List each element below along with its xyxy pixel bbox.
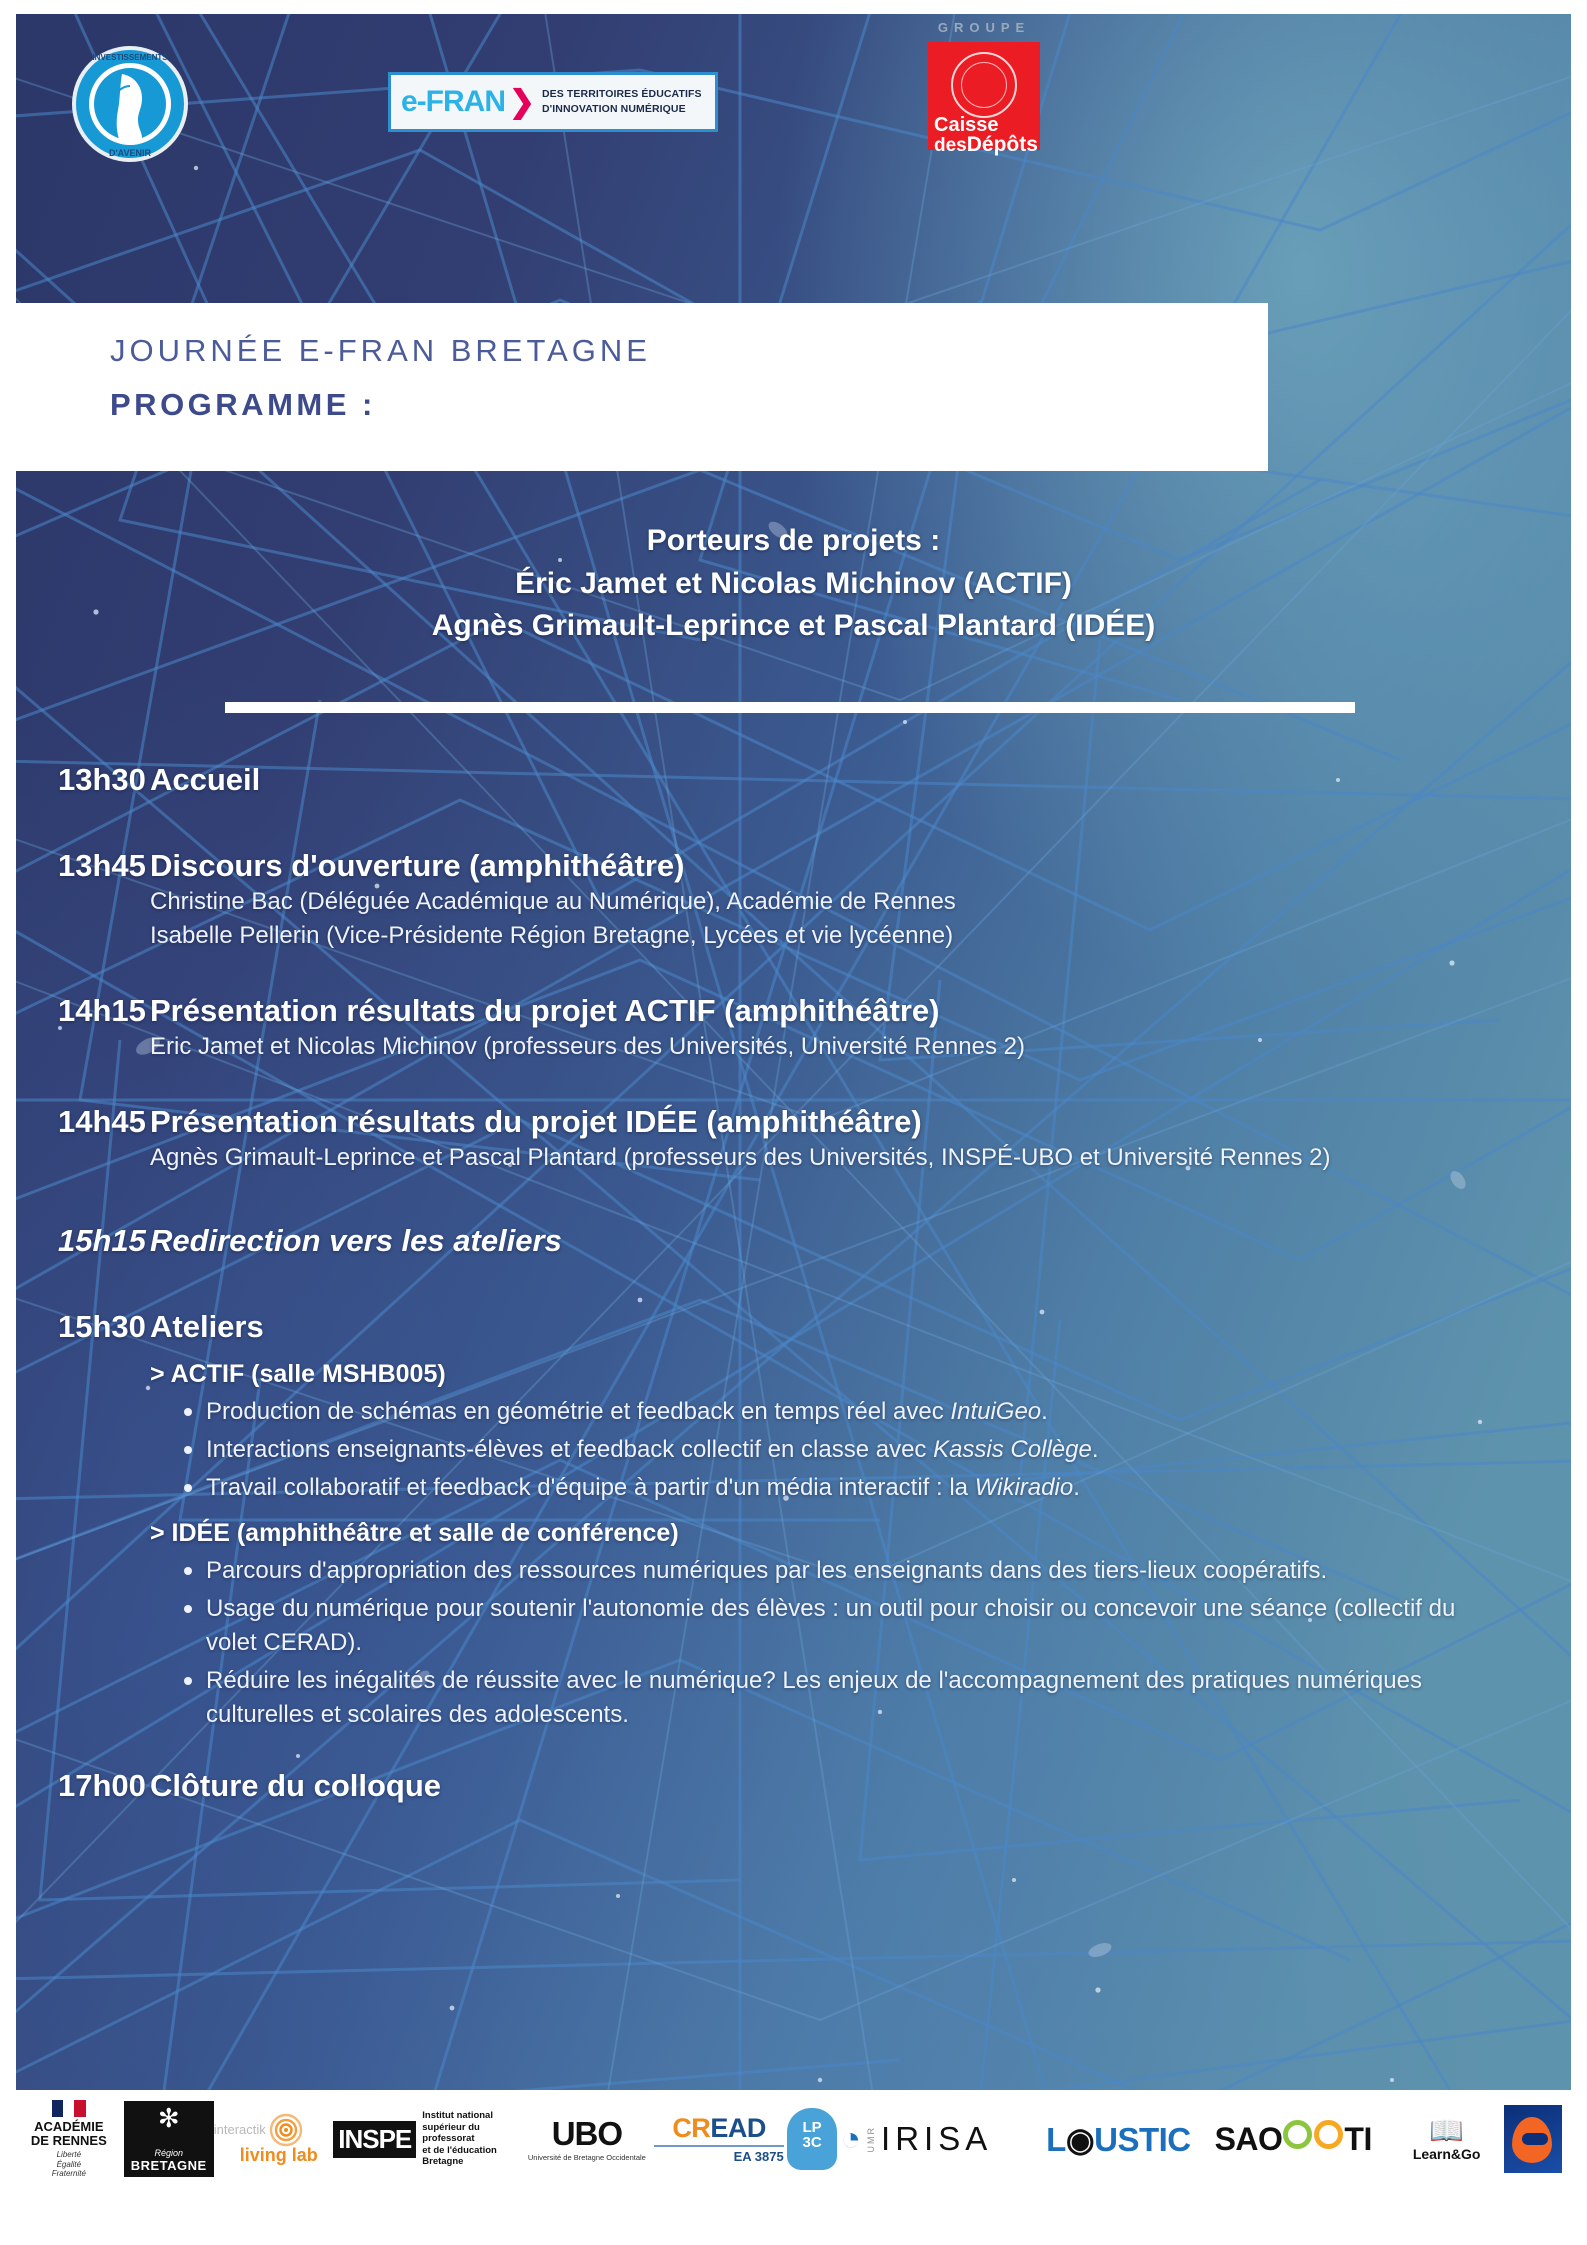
logo-lp3c: LP3C	[784, 2100, 841, 2178]
workshop-item: Production de schémas en géométrie et fe…	[184, 1395, 1507, 1430]
logo-e	[1504, 2100, 1573, 2178]
schedule-speaker: Christine Bac (Déléguée Académique au Nu…	[150, 885, 1507, 919]
workshop-item: Interactions enseignants-élèves et feedb…	[184, 1433, 1507, 1468]
workshop-item: Travail collaboratif et feedback d'équip…	[184, 1471, 1507, 1506]
interactik-label: interactik	[214, 2122, 266, 2137]
footer: ACADÉMIE DE RENNES LibertéÉgalitéFratern…	[0, 2090, 1587, 2245]
schedule-row-ateliers: 15h30 Ateliers > ACTIF (salle MSHB005) P…	[0, 1307, 1587, 1736]
learngo-wordmark: Learn&Go	[1413, 2146, 1481, 2162]
living-lab-label: living lab	[240, 2145, 318, 2166]
schedule-list: 13h30 Accueil 13h45 Discours d'ouverture…	[0, 760, 1587, 1805]
logo-academie-de-rennes: ACADÉMIE DE RENNES LibertéÉgalitéFratern…	[14, 2100, 124, 2178]
schedule-title: Discours d'ouverture (amphithéâtre)	[150, 846, 1507, 886]
inspe-l3: et de l'éducation	[422, 2145, 497, 2156]
inspe-l4: Bretagne	[422, 2156, 463, 2167]
schedule-row: 14h45 Présentation résultats du projet I…	[0, 1102, 1587, 1175]
main-content: Porteurs de projets : Éric Jamet et Nico…	[0, 0, 1587, 2245]
e-glyph-icon	[1512, 2117, 1552, 2163]
logo-learn-and-go: 📖 Learn&Go	[1389, 2100, 1505, 2178]
book-icon: 📖	[1429, 2117, 1464, 2145]
academie-line1: ACADÉMIE	[34, 2120, 103, 2134]
schedule-body: Présentation résultats du projet IDÉE (a…	[150, 1102, 1587, 1175]
saooti-dot-green-icon	[1283, 2120, 1312, 2149]
schedule-title: Ateliers	[150, 1307, 1507, 1347]
workshop-item: Usage du numérique pour soutenir l'auton…	[184, 1592, 1507, 1661]
schedule-time: 13h30	[0, 760, 150, 800]
schedule-row: 15h15 Redirection vers les ateliers	[0, 1221, 1587, 1261]
schedule-time: 15h30	[0, 1307, 150, 1736]
cread-unit: EA 3875	[654, 2145, 783, 2164]
schedule-time: 14h45	[0, 1102, 150, 1175]
frame-edge-left	[0, 0, 16, 2090]
schedule-title: Présentation résultats du projet ACTIF (…	[150, 991, 1507, 1031]
logo-region-bretagne: ✻ Région BRETAGNE	[124, 2101, 214, 2177]
ubo-subtitle: Université de Bretagne Occidentale	[528, 2153, 646, 2162]
project-leaders-idee: Agnès Grimault-Leprince et Pascal Planta…	[0, 605, 1587, 648]
schedule-time: 13h45	[0, 846, 150, 953]
logo-irisa: ◔ UMR IRISA	[841, 2100, 1047, 2178]
cread-wordmark: CREAD	[672, 2115, 766, 2142]
ubo-wordmark: UBO	[552, 2117, 622, 2150]
workshop-item: Réduire les inégalités de réussite avec …	[184, 1664, 1507, 1733]
schedule-speaker: Eric Jamet et Nicolas Michinov (professe…	[150, 1030, 1507, 1064]
workshop-group-head: > IDÉE (amphithéâtre et salle de confére…	[150, 1519, 1507, 1548]
irisa-umr-label: UMR	[866, 2126, 876, 2153]
region-label: Région	[154, 2148, 183, 2158]
schedule-title: Clôture du colloque	[150, 1766, 1507, 1806]
schedule-title: Redirection vers les ateliers	[150, 1221, 1507, 1261]
divider-rule	[225, 702, 1355, 713]
logo-cread: CREAD EA 3875	[654, 2100, 783, 2178]
schedule-speaker: Agnès Grimault-Leprince et Pascal Planta…	[150, 1141, 1507, 1175]
logo-interactik-living-lab: interactik living lab	[214, 2100, 333, 2178]
logo-saooti: SAOTI	[1215, 2100, 1389, 2178]
saooti-wordmark: SAOTI	[1215, 2120, 1372, 2158]
project-leaders: Porteurs de projets : Éric Jamet et Nico…	[0, 520, 1587, 648]
workshop-list: Production de schémas en géométrie et fe…	[150, 1395, 1507, 1505]
schedule-row: 17h00 Clôture du colloque	[0, 1766, 1587, 1806]
loustic-wordmark: L◉USTIC	[1046, 2120, 1190, 2159]
schedule-speaker: Isabelle Pellerin (Vice-Présidente Régio…	[150, 919, 1507, 953]
inspe-subtitle: Institut national supérieur du professor…	[422, 2110, 519, 2168]
logo-loustic: L◉USTIC	[1046, 2100, 1214, 2178]
logo-ubo: UBO Université de Bretagne Occidentale	[519, 2100, 654, 2178]
project-leaders-actif: Éric Jamet et Nicolas Michinov (ACTIF)	[0, 563, 1587, 606]
schedule-title: Présentation résultats du projet IDÉE (a…	[150, 1102, 1507, 1142]
head-profile-icon: LP3C	[787, 2108, 837, 2170]
workshop-list: Parcours d'appropriation des ressources …	[150, 1554, 1507, 1733]
schedule-body: Présentation résultats du projet ACTIF (…	[150, 991, 1587, 1064]
lp3c-wordmark: LP3C	[787, 2120, 837, 2150]
bretagne-label: BRETAGNE	[131, 2158, 207, 2173]
schedule-time: 14h15	[0, 991, 150, 1064]
workshop-item: Parcours d'appropriation des ressources …	[184, 1554, 1507, 1589]
frame-edge-right	[1571, 0, 1587, 2090]
frame-edge-top	[0, 0, 1587, 14]
schedule-body: Accueil	[150, 760, 1587, 800]
schedule-row: 14h15 Présentation résultats du projet A…	[0, 991, 1587, 1064]
schedule-row: 13h30 Accueil	[0, 760, 1587, 800]
project-leaders-heading: Porteurs de projets :	[0, 520, 1587, 563]
saooti-dot-orange-icon	[1314, 2120, 1343, 2149]
ermine-icon: ✻	[158, 2105, 180, 2131]
academie-line2: DE RENNES	[31, 2134, 107, 2148]
irisa-wordmark: IRISA	[881, 2120, 992, 2158]
inspe-wordmark: INSPE	[333, 2121, 416, 2158]
irisa-symbol-icon: ◔	[841, 2120, 862, 2159]
schedule-body: Clôture du colloque	[150, 1766, 1587, 1806]
interactik-row: interactik	[214, 2113, 303, 2147]
e-logo-tile	[1504, 2105, 1562, 2173]
partner-logos: ACADÉMIE DE RENNES LibertéÉgalitéFratern…	[0, 2098, 1587, 2180]
inspe-l2: supérieur du professorat	[422, 2122, 480, 2145]
academie-motto: LibertéÉgalitéFraternité	[52, 2150, 86, 2178]
schedule-time: 17h00	[0, 1766, 150, 1806]
inspe-l1: Institut national	[422, 2110, 493, 2121]
schedule-time: 15h15	[0, 1221, 150, 1261]
logo-inspe-bretagne: INSPE Institut national supérieur du pro…	[333, 2100, 519, 2178]
schedule-title: Accueil	[150, 760, 1507, 800]
french-flag-icon	[52, 2100, 86, 2117]
spiral-icon	[269, 2113, 303, 2147]
workshop-group-head: > ACTIF (salle MSHB005)	[150, 1360, 1507, 1389]
schedule-body: Discours d'ouverture (amphithéâtre) Chri…	[150, 846, 1587, 953]
poster: INVESTISSEMENTS D'AVENIR e-FRAN ❯ DES TE…	[0, 0, 1587, 2245]
schedule-body: Ateliers > ACTIF (salle MSHB005) Product…	[150, 1307, 1587, 1736]
schedule-body: Redirection vers les ateliers	[150, 1221, 1587, 1261]
schedule-row: 13h45 Discours d'ouverture (amphithéâtre…	[0, 846, 1587, 953]
